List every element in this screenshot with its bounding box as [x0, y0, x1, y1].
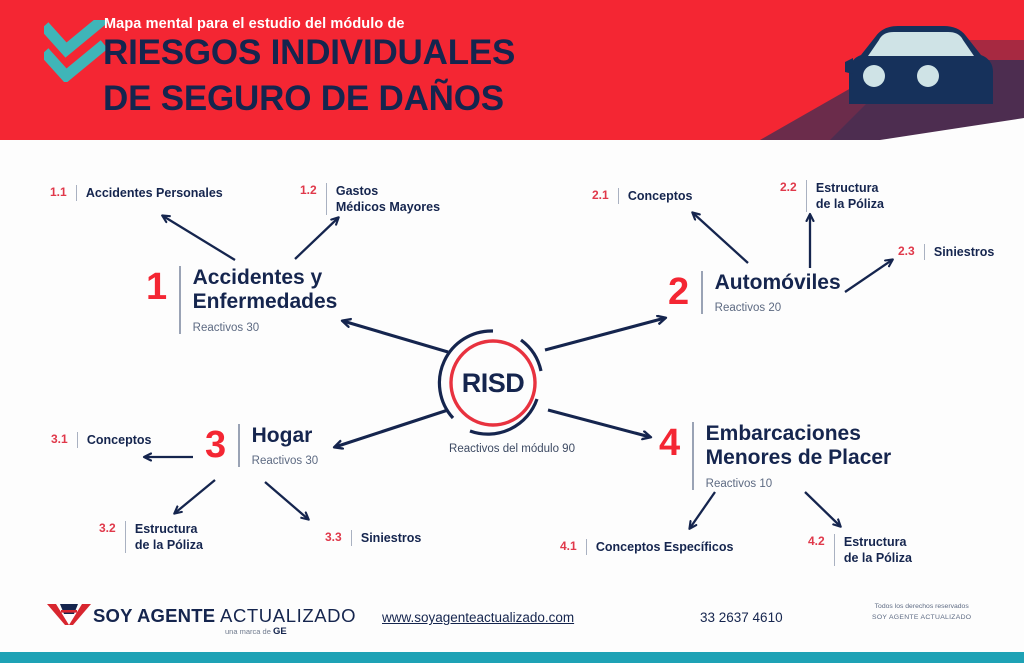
branch-1-title-line1: Accidentes y: [193, 266, 338, 290]
subnode-4-1-label: Conceptos Específicos: [596, 539, 734, 555]
header-kicker: Mapa mental para el estudio del módulo d…: [104, 16, 405, 32]
subnode-2-2-number: 2.2: [780, 180, 797, 195]
branch-4-title-line2: Menores de Placer: [706, 446, 892, 470]
subnode-4-2-label-line2: de la Póliza: [844, 550, 912, 566]
footer-rights: Todos los derechos reservados SOY AGENTE…: [872, 602, 971, 623]
arrow-center-to-b1: [343, 321, 448, 352]
bottom-accent-bar: [0, 652, 1024, 663]
arrow-b1-to-12: [295, 218, 338, 259]
soy-agente-x-icon: [47, 601, 91, 627]
branch-2-number: 2: [668, 273, 689, 311]
subnode-4-2[interactable]: 4.2 Estructura de la Póliza: [808, 534, 912, 566]
subnode-4-2-number: 4.2: [808, 534, 825, 549]
center-node: RISD: [437, 327, 549, 439]
subnode-3-2[interactable]: 3.2 Estructura de la Póliza: [99, 521, 203, 553]
branch-1-number: 1: [146, 268, 167, 306]
branch-2-title-line1: Automóviles: [715, 271, 841, 295]
subnode-1-1-number: 1.1: [50, 185, 67, 200]
subnode-1-1-label: Accidentes Personales: [86, 185, 223, 201]
subnode-3-2-divider: [125, 521, 126, 553]
footer-phone: 33 2637 4610: [700, 610, 783, 625]
subnode-3-1-label: Conceptos: [87, 432, 152, 448]
branch-2[interactable]: 2 Automóviles Reactivos 20: [668, 271, 841, 314]
subnode-2-2-divider: [806, 180, 807, 212]
footer-tagline-text: una marca de: [225, 627, 271, 636]
arrow-center-to-b2: [545, 318, 665, 350]
branch-4-divider: [692, 422, 694, 490]
subnode-1-2-number: 1.2: [300, 183, 317, 198]
car-mirror-left: [845, 58, 853, 74]
subnode-2-3-divider: [924, 244, 925, 260]
arrow-center-to-b3: [335, 410, 448, 447]
branch-2-subtitle: Reactivos 20: [715, 302, 841, 314]
branch-2-divider: [701, 271, 703, 314]
subnode-2-2[interactable]: 2.2 Estructura de la Póliza: [780, 180, 884, 212]
branch-1-subtitle: Reactivos 30: [193, 322, 338, 334]
subnode-4-1[interactable]: 4.1 Conceptos Específicos: [560, 539, 733, 555]
branch-3-title-line1: Hogar: [252, 424, 318, 448]
subnode-4-1-divider: [586, 539, 587, 555]
subnode-2-1-divider: [618, 188, 619, 204]
footer-rights-line2: SOY AGENTE ACTUALIZADO: [872, 613, 971, 624]
subnode-2-3[interactable]: 2.3 Siniestros: [898, 244, 994, 260]
subnode-1-1-divider: [76, 185, 77, 201]
subnode-1-2-label-line2: Médicos Mayores: [336, 199, 440, 215]
footer-rights-line1: Todos los derechos reservados: [872, 602, 971, 613]
footer-tagline-brand: GE: [273, 626, 287, 637]
arrow-b3-to-32: [175, 480, 215, 513]
subnode-2-2-label-line2: de la Póliza: [816, 196, 884, 212]
subnode-3-3-divider: [351, 530, 352, 546]
subnode-2-1-number: 2.1: [592, 188, 609, 203]
subnode-4-2-divider: [834, 534, 835, 566]
subnode-1-1[interactable]: 1.1 Accidentes Personales: [50, 185, 223, 201]
center-acronym: RISD: [437, 327, 549, 439]
subnode-2-1[interactable]: 2.1 Conceptos: [592, 188, 692, 204]
subnode-3-2-label-line1: Estructura: [135, 521, 203, 537]
arrow-b1-to-11: [163, 216, 235, 260]
page-title-line2: DE SEGURO DE DAÑOS: [103, 79, 504, 119]
subnode-1-2-divider: [326, 183, 327, 215]
footer-logo-bold: SOY AGENTE: [93, 605, 215, 626]
branch-4-title-line1: Embarcaciones: [706, 422, 892, 446]
footer-website-link[interactable]: www.soyagenteactualizado.com: [382, 610, 574, 625]
branch-4-subtitle: Reactivos 10: [706, 478, 892, 490]
header-banner: Mapa mental para el estudio del módulo d…: [0, 0, 1024, 140]
car-windshield: [868, 32, 974, 56]
subnode-3-3[interactable]: 3.3 Siniestros: [325, 530, 421, 546]
branch-4[interactable]: 4 Embarcaciones Menores de Placer Reacti…: [659, 422, 891, 490]
subnode-4-1-number: 4.1: [560, 539, 577, 554]
arrow-b4-to-41: [690, 492, 715, 528]
branch-3-subtitle: Reactivos 30: [252, 455, 318, 467]
center-caption: Reactivos del módulo 90: [449, 443, 575, 455]
branch-1[interactable]: 1 Accidentes y Enfermedades Reactivos 30: [146, 266, 337, 334]
footer-logo-light: ACTUALIZADO: [215, 605, 356, 626]
arrow-b4-to-42: [805, 492, 840, 526]
double-check-icon: [44, 20, 110, 82]
subnode-1-2-label-line1: Gastos: [336, 183, 440, 199]
page-title-line1: RIESGOS INDIVIDUALES: [103, 33, 515, 73]
branch-3-divider: [238, 424, 240, 467]
branch-3-number: 3: [205, 426, 226, 464]
subnode-4-2-label-line1: Estructura: [844, 534, 912, 550]
arrow-center-to-b4: [548, 410, 650, 437]
subnode-3-2-number: 3.2: [99, 521, 116, 536]
subnode-3-2-label-line2: de la Póliza: [135, 537, 203, 553]
car-headlight-right: [917, 65, 939, 87]
subnode-2-3-number: 2.3: [898, 244, 915, 259]
arrow-b2-to-23: [845, 260, 892, 292]
branch-3[interactable]: 3 Hogar Reactivos 30: [205, 424, 318, 467]
subnode-2-1-label: Conceptos: [628, 188, 693, 204]
branch-1-title-line2: Enfermedades: [193, 290, 338, 314]
subnode-3-3-number: 3.3: [325, 530, 342, 545]
subnode-2-3-label: Siniestros: [934, 244, 994, 260]
footer-logo-tagline: una marca de GE: [225, 626, 287, 637]
infographic-canvas: Mapa mental para el estudio del módulo d…: [0, 0, 1024, 663]
car-headlight-left: [863, 65, 885, 87]
footer-logo-text: SOY AGENTE ACTUALIZADO: [93, 605, 356, 627]
subnode-3-3-label: Siniestros: [361, 530, 421, 546]
subnode-3-1-number: 3.1: [51, 432, 68, 447]
arrow-b3-to-33: [265, 482, 308, 519]
arrow-b2-to-21: [693, 213, 748, 263]
subnode-2-2-label-line1: Estructura: [816, 180, 884, 196]
branch-4-number: 4: [659, 424, 680, 462]
subnode-1-2[interactable]: 1.2 Gastos Médicos Mayores: [300, 183, 440, 215]
car-front-icon: [845, 26, 993, 104]
subnode-3-1-divider: [77, 432, 78, 448]
subnode-3-1[interactable]: 3.1 Conceptos: [51, 432, 151, 448]
branch-1-divider: [179, 266, 181, 334]
